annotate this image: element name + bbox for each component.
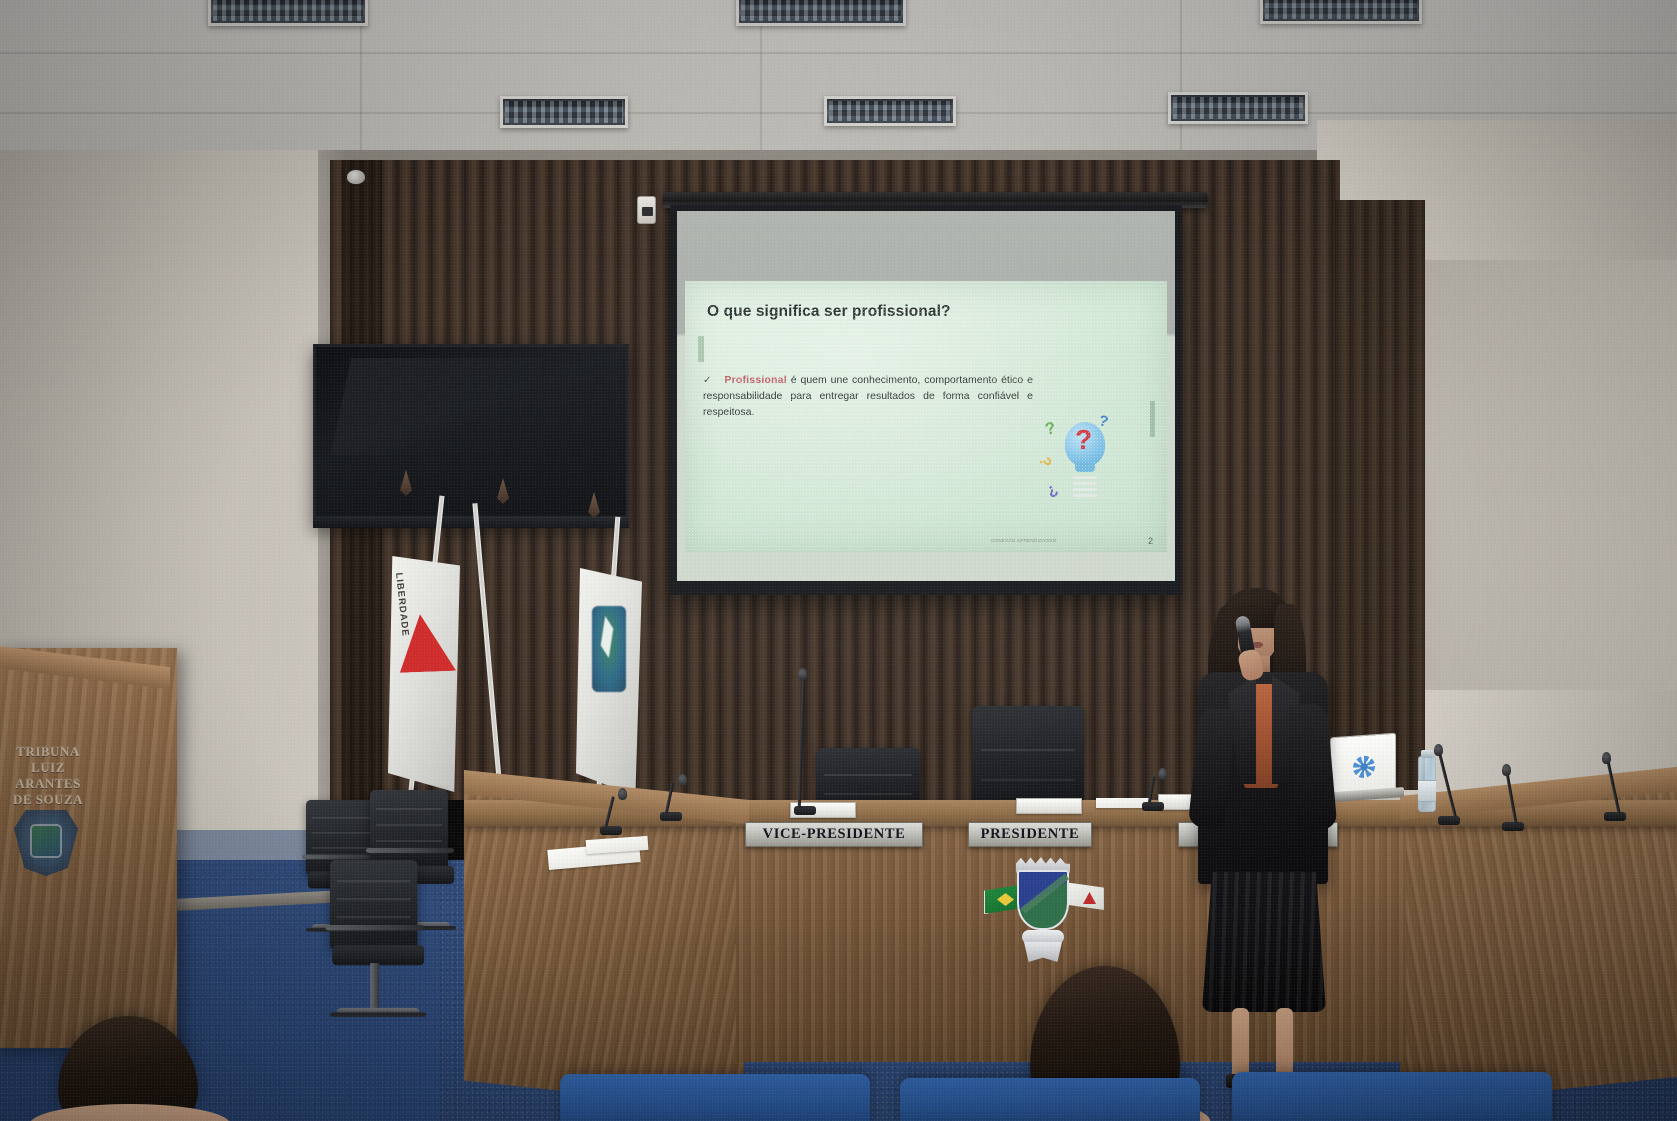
- floating-question-mark-blue: ?: [1097, 413, 1110, 430]
- minas-gerais-flag-icon: [1064, 882, 1104, 910]
- slide-accent-bar-right: [1150, 401, 1155, 437]
- presenter-leg-right: [1276, 1008, 1293, 1080]
- auditorium-photo: O que significa ser profissional? ✓Profi…: [0, 0, 1677, 1121]
- table-name-card: [1016, 798, 1082, 814]
- floating-question-mark-green: ?: [1043, 419, 1057, 438]
- arms-scroll: [1022, 930, 1064, 944]
- water-bottle-cap: [1421, 750, 1433, 758]
- ceiling-panel-line: [0, 52, 1677, 54]
- audience-chair[interactable]: [560, 1074, 870, 1121]
- podium-sign-line-3: DE SOUZA: [0, 792, 96, 808]
- water-bottle-label: [1418, 780, 1436, 802]
- ceiling-dome-camera: [347, 170, 365, 184]
- slide-credit: CONEXÃO APRENDIZAGEM: [991, 538, 1057, 543]
- ceiling-light: [824, 96, 956, 126]
- arms-shield: [1017, 870, 1069, 930]
- presenter-leg-left: [1232, 1008, 1249, 1080]
- podium-sign-line-2: LUIZ ARANTES: [0, 760, 96, 792]
- podium-sign-line-1: TRIBUNA: [0, 744, 96, 760]
- ceiling-light: [1168, 92, 1308, 124]
- presentation-slide: O que significa ser profissional? ✓Profi…: [685, 281, 1167, 552]
- slide-accent-bar-left: [698, 336, 704, 362]
- municipal-emblem: [592, 606, 626, 692]
- screen-control-remote[interactable]: [637, 196, 656, 224]
- audience-chair[interactable]: [1232, 1072, 1552, 1121]
- wall-mounted-television[interactable]: [313, 344, 629, 526]
- nameplate-vice-president: VICE-PRESIDENTE: [745, 822, 923, 847]
- ceiling-light: [208, 0, 368, 26]
- slide-keyword: Profissional: [724, 374, 787, 386]
- arms-ribbon: [1024, 942, 1062, 962]
- bulb-question-mark: ?: [1075, 426, 1092, 454]
- floating-question-mark-yellow: ?: [1035, 456, 1052, 468]
- ceiling-light: [500, 96, 628, 128]
- lightbulb-question-icon: ? ? ? ? ?: [1037, 414, 1129, 516]
- slide-body: ✓Profissional é quem une conhecimento, c…: [703, 373, 1033, 421]
- slide-bullet-check: ✓: [703, 375, 712, 386]
- ceiling-light: [736, 0, 906, 26]
- slide-page-number: 2: [1148, 536, 1153, 546]
- television-bezel: [313, 516, 629, 528]
- podium-sign: TRIBUNA LUIZ ARANTES DE SOUZA: [0, 744, 96, 807]
- presenter-skirt: [1202, 872, 1326, 1012]
- municipal-coat-of-arms: [978, 850, 1106, 968]
- speaker-podium: TRIBUNA LUIZ ARANTES DE SOUZA: [0, 648, 177, 1048]
- audience-chair[interactable]: [900, 1078, 1200, 1121]
- presenter: [1180, 588, 1370, 1088]
- floating-question-mark-purple: ?: [1044, 481, 1060, 500]
- ceiling-light: [1260, 0, 1422, 24]
- ceiling-panel-line: [1180, 0, 1182, 170]
- slide-title: O que significa ser profissional?: [707, 303, 951, 321]
- nameplate-president: PRESIDENTE: [968, 822, 1092, 847]
- podium-coat-of-arms: [14, 810, 78, 876]
- bulb-neck: [1075, 462, 1095, 472]
